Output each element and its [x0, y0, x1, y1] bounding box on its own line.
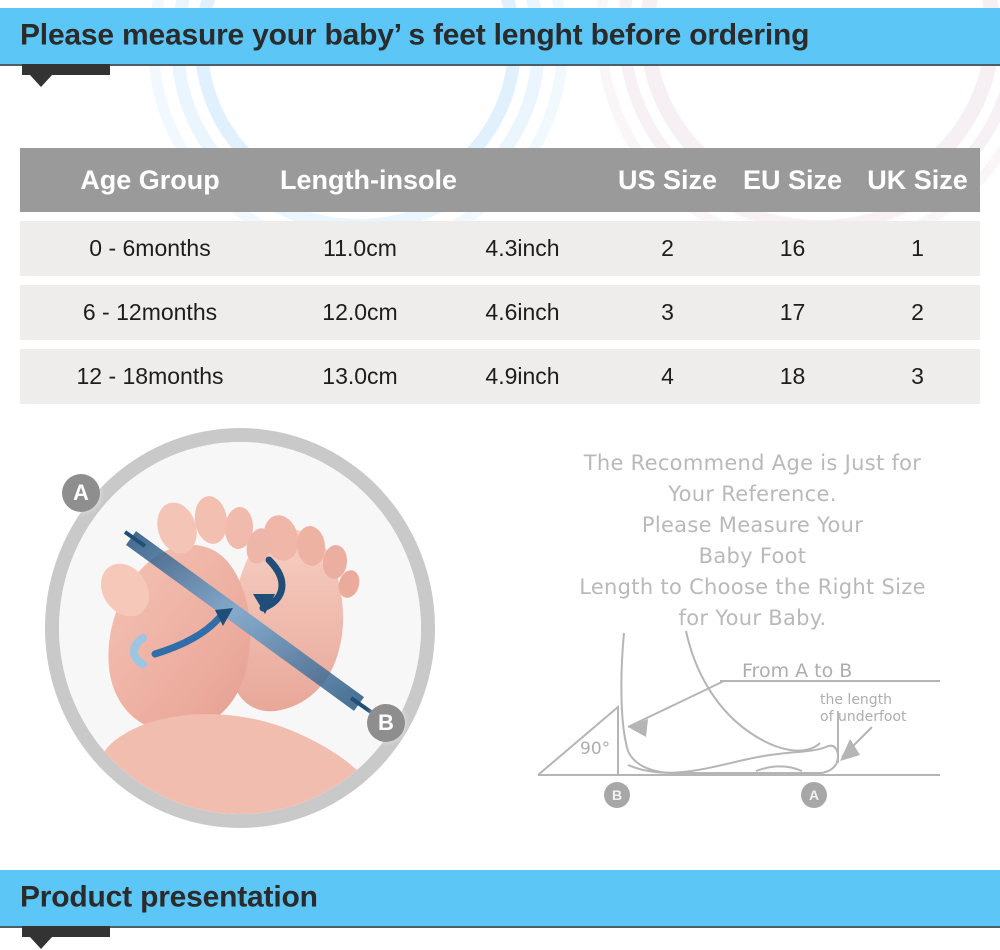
cell-us-size: 4	[605, 363, 730, 390]
cell-us-size: 2	[605, 235, 730, 262]
table-row: 0 - 6months 11.0cm 4.3inch 2 16 1	[20, 221, 980, 276]
cell-length-inch: 4.6inch	[440, 299, 605, 326]
column-header-us-size: US Size	[605, 165, 730, 196]
label-underfoot-line-2: of underfoot	[820, 709, 907, 725]
label-right-angle: 90°	[580, 739, 610, 759]
recommendation-notice: The Recommend Age is Just for Your Refer…	[545, 448, 960, 634]
cell-length-cm: 13.0cm	[280, 363, 440, 390]
banner-top-tab-marker	[22, 64, 110, 75]
badge-schematic-point-b: B	[604, 782, 630, 808]
badge-point-b: B	[367, 704, 405, 742]
foot-measurement-schematic: From A to B the length of underfoot 90° …	[520, 615, 970, 825]
banner-bottom-title: Product presentation	[20, 880, 318, 914]
cell-uk-size: 3	[855, 363, 980, 390]
column-header-length-insole: Length-insole	[280, 165, 440, 196]
column-header-eu-size: EU Size	[730, 165, 855, 196]
label-underfoot-line-1: the length	[820, 692, 892, 708]
cell-us-size: 3	[605, 299, 730, 326]
banner-top-title: Please measure your baby’ s feet lenght …	[20, 18, 809, 52]
column-header-uk-size: UK Size	[855, 165, 980, 196]
banner-top-rule	[0, 64, 1000, 66]
notice-line: Baby Foot	[545, 541, 960, 572]
badge-schematic-point-a: A	[801, 782, 827, 808]
table-row: 6 - 12months 12.0cm 4.6inch 3 17 2	[20, 285, 980, 340]
baby-foot-illustration	[59, 442, 421, 814]
label-from-a-to-b: From A to B	[742, 660, 852, 682]
cell-uk-size: 2	[855, 299, 980, 326]
section-banner-top: Please measure your baby’ s feet lenght …	[0, 8, 1000, 64]
size-chart-table: Age Group Length-insole US Size EU Size …	[20, 148, 980, 404]
cell-uk-size: 1	[855, 235, 980, 262]
cell-age-group: 0 - 6months	[20, 235, 280, 262]
badge-point-a: A	[62, 474, 100, 512]
baby-foot-photo	[59, 442, 421, 814]
notice-line: Your Reference.	[545, 479, 960, 510]
cell-length-inch: 4.3inch	[440, 235, 605, 262]
cell-eu-size: 17	[730, 299, 855, 326]
cell-length-inch: 4.9inch	[440, 363, 605, 390]
banner-bottom-tab-marker	[22, 926, 110, 937]
section-banner-bottom: Product presentation	[0, 870, 1000, 926]
column-header-age-group: Age Group	[20, 165, 280, 196]
cell-eu-size: 16	[730, 235, 855, 262]
baby-foot-photo-block: A B	[45, 428, 435, 828]
notice-line: The Recommend Age is Just for	[545, 448, 960, 479]
cell-length-cm: 12.0cm	[280, 299, 440, 326]
table-header-row: Age Group Length-insole US Size EU Size …	[20, 148, 980, 212]
cell-age-group: 12 - 18months	[20, 363, 280, 390]
table-row: 12 - 18months 13.0cm 4.9inch 4 18 3	[20, 349, 980, 404]
cell-age-group: 6 - 12months	[20, 299, 280, 326]
banner-bottom-rule	[0, 926, 1000, 928]
cell-eu-size: 18	[730, 363, 855, 390]
notice-line: Length to Choose the Right Size	[545, 572, 960, 603]
notice-line: Please Measure Your	[545, 510, 960, 541]
cell-length-cm: 11.0cm	[280, 235, 440, 262]
